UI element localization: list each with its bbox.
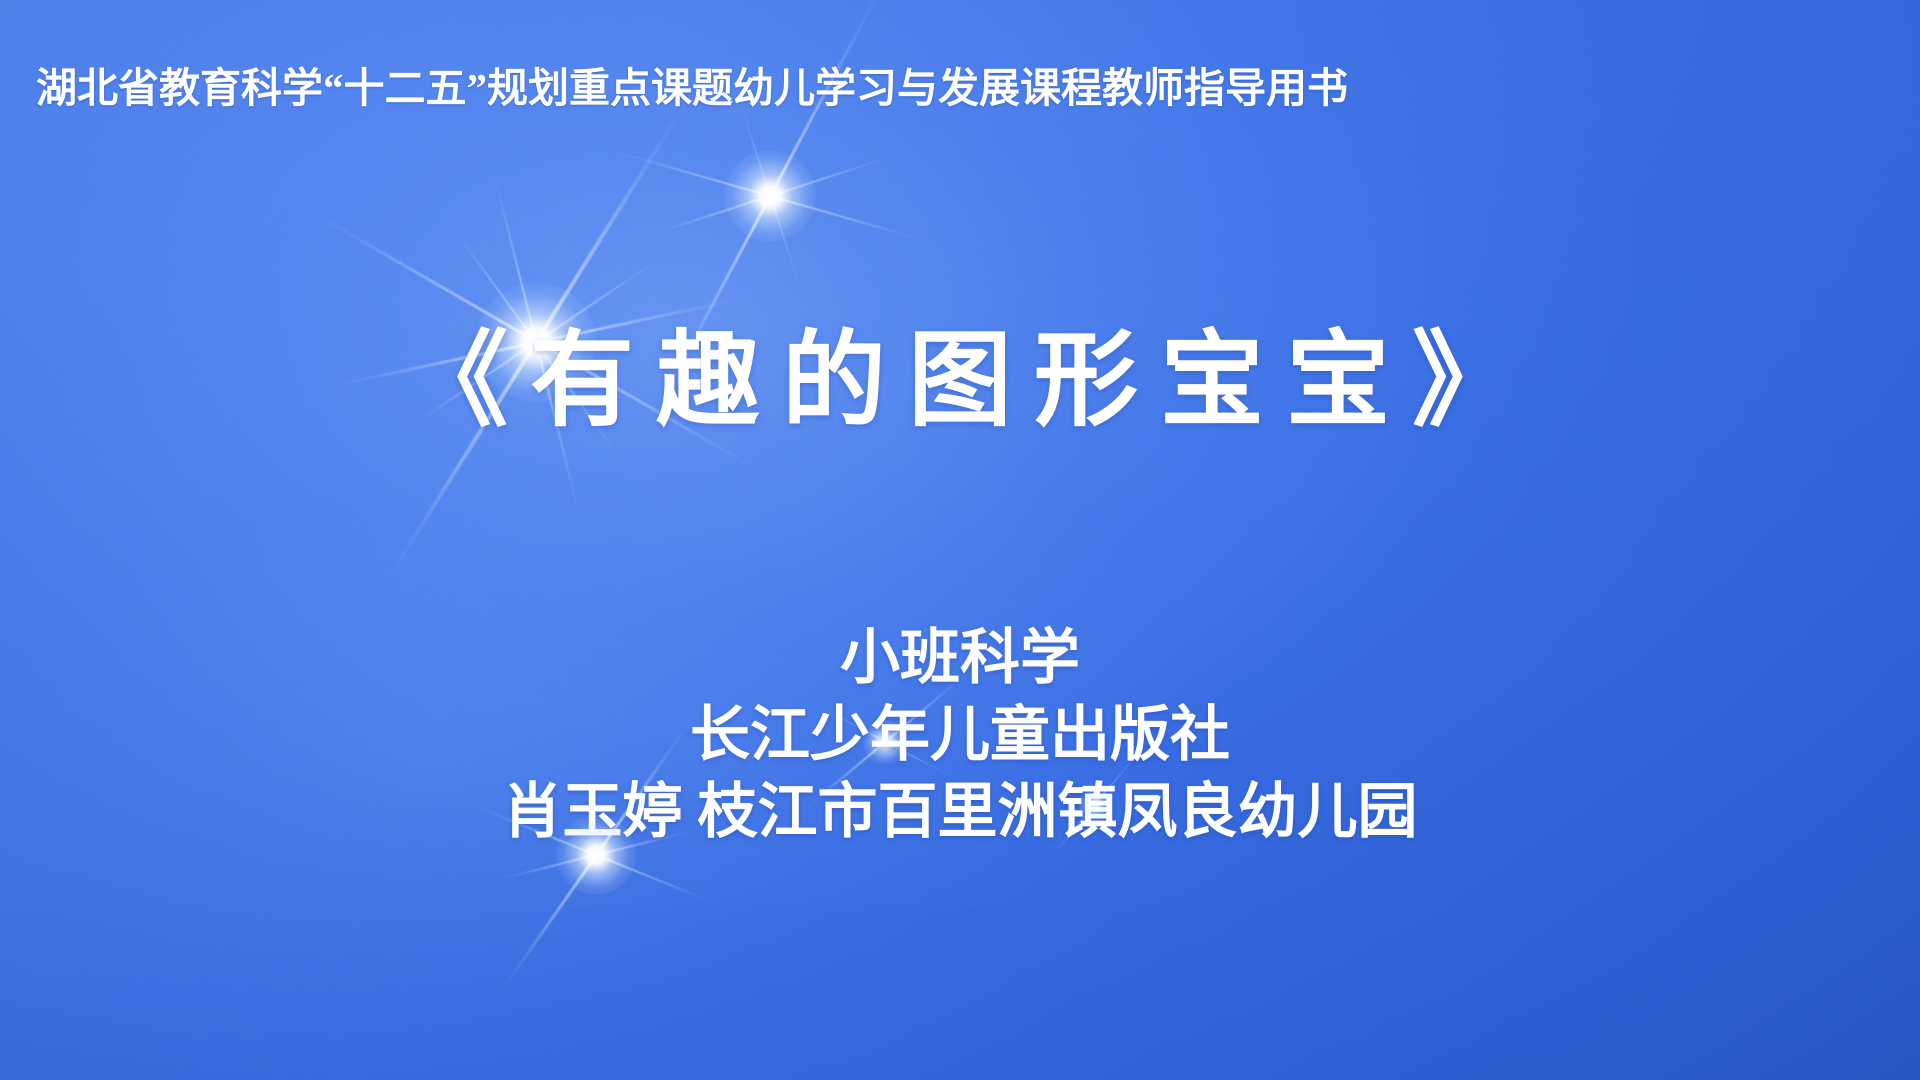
subtitle-line-publisher: 长江少年儿童出版社 <box>0 697 1920 774</box>
presentation-slide: 湖北省教育科学“十二五”规划重点课题幼儿学习与发展课程教师指导用书 《有趣的图形… <box>0 0 1920 1080</box>
page-title: 《有趣的图形宝宝》 <box>0 330 1920 434</box>
slide-header-banner: 湖北省教育科学“十二五”规划重点课题幼儿学习与发展课程教师指导用书 <box>36 54 1348 114</box>
subtitle-line-subject: 小班科学 <box>0 620 1920 697</box>
slide-content: 湖北省教育科学“十二五”规划重点课题幼儿学习与发展课程教师指导用书 《有趣的图形… <box>0 0 1920 1080</box>
subtitle-block: 小班科学 长江少年儿童出版社 肖玉婷 枝江市百里洲镇凤良幼儿园 <box>0 620 1920 850</box>
subtitle-line-author: 肖玉婷 枝江市百里洲镇凤良幼儿园 <box>0 774 1920 851</box>
